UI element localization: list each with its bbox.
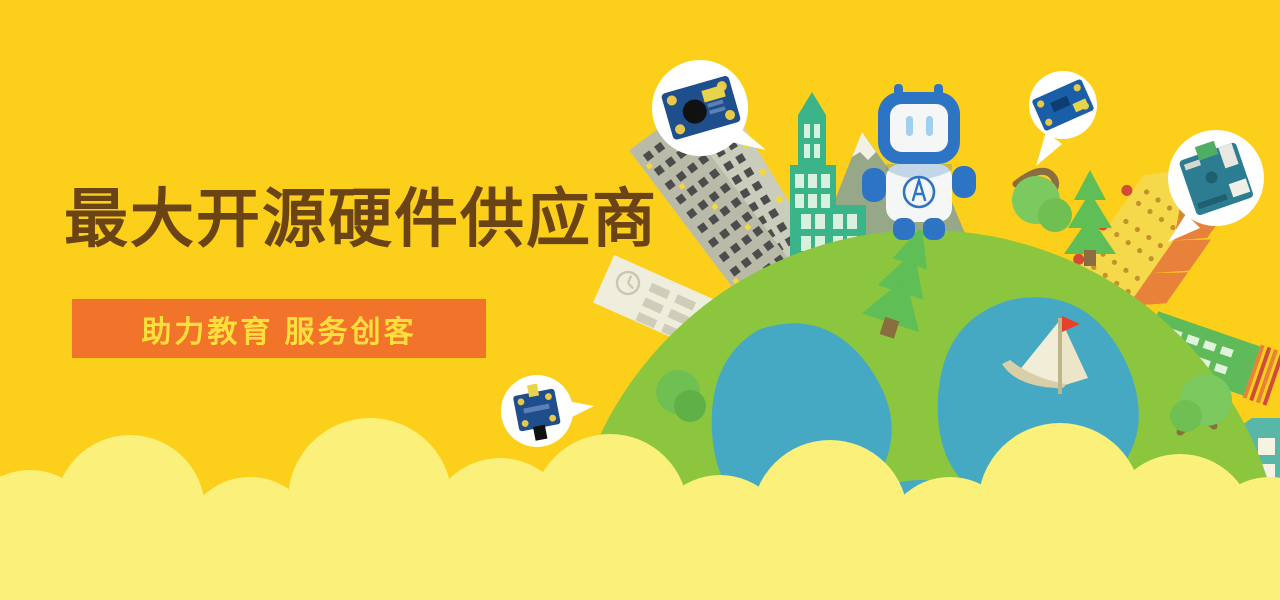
bubble-arduino-right — [1168, 130, 1264, 242]
bubble-sensor-bottom-left — [501, 375, 594, 447]
page-title: 最大开源硬件供应商 — [64, 186, 658, 253]
tree-rim-top-right — [1012, 171, 1072, 232]
subtitle-text: 助力教育 服务创客 — [72, 299, 486, 358]
bottom-cloud-band — [0, 418, 1280, 600]
hero-banner: 最大开源硬件供应商 助力教育 服务创客 — [0, 0, 1280, 600]
bubble-sensor-top-left — [652, 60, 766, 156]
pine-tree-rim-right — [1064, 170, 1116, 266]
bubble-board-top-right — [1029, 71, 1097, 166]
subtitle-badge: 助力教育 服务创客 — [72, 299, 486, 358]
